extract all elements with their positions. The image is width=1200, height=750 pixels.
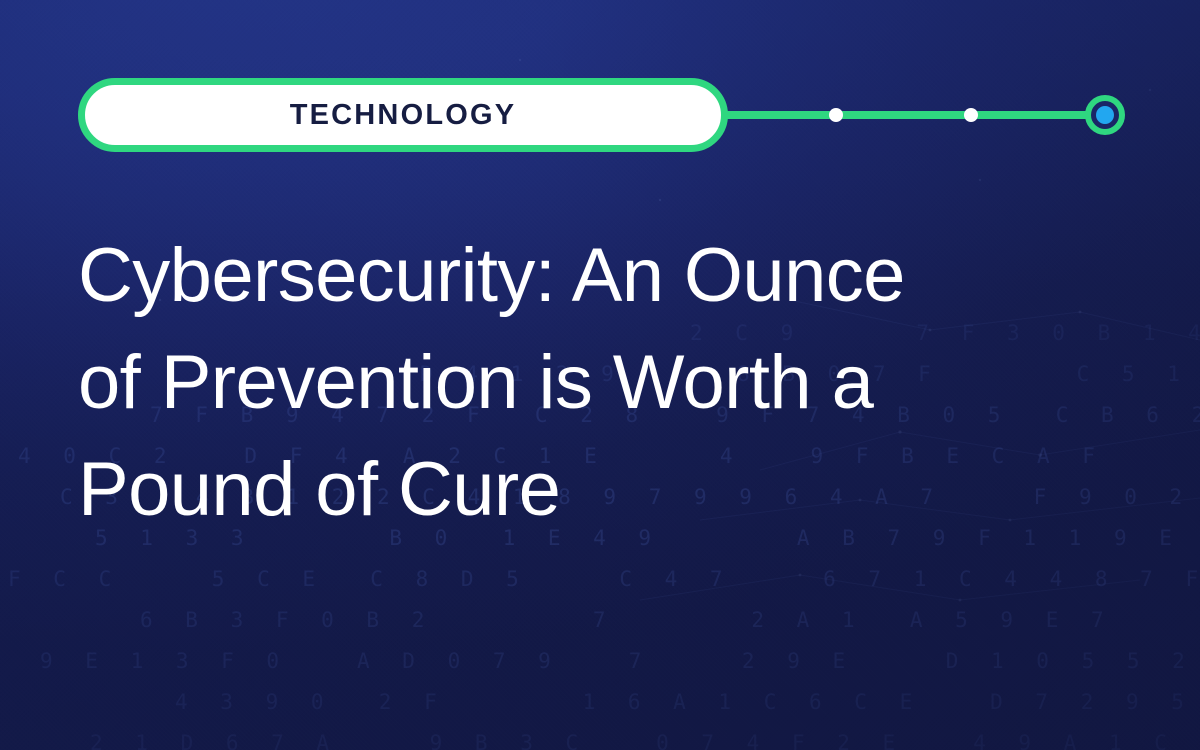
article-headline: Cybersecurity: An Ounce of Prevention is… (78, 222, 1138, 543)
category-badge[interactable]: TECHNOLOGY (78, 78, 728, 152)
connector-dot (964, 108, 978, 122)
connector-end-node (1085, 95, 1125, 135)
category-topbar: TECHNOLOGY (78, 78, 1123, 154)
article-hero-banner: D 4 1 2 9 8 B 0 7 F C 5 1 9 2 A E 7 4 C … (0, 0, 1200, 750)
connector-dot (829, 108, 843, 122)
connector-line (726, 111, 1101, 119)
headline-line: Pound of Cure (78, 436, 1138, 543)
headline-line: of Prevention is Worth a (78, 329, 1138, 436)
category-badge-label: TECHNOLOGY (290, 101, 517, 130)
headline-line: Cybersecurity: An Ounce (78, 222, 1138, 329)
end-node-core (1096, 106, 1114, 124)
